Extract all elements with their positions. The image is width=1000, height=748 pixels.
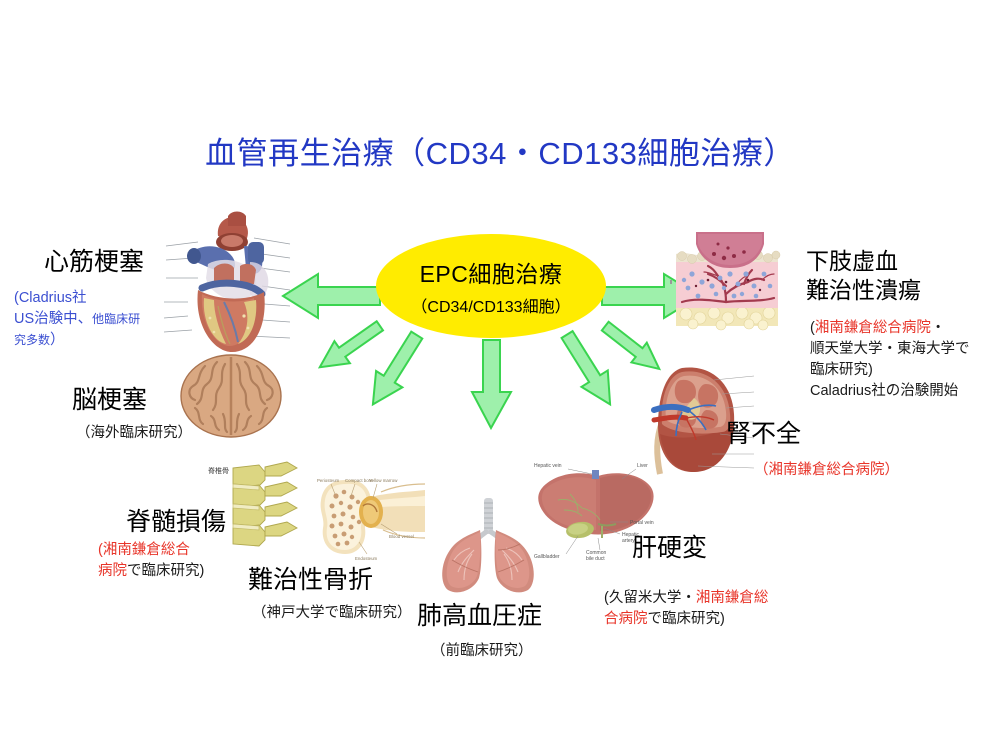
svg-text:Blood vessel: Blood vessel — [389, 534, 414, 539]
label-myocardial-infarction: 心筋梗塞 — [44, 248, 144, 278]
limb-ischemia-heading-1: 下肢虚血 — [806, 248, 921, 275]
lc-note-black2: で臨床研究) — [648, 611, 725, 627]
label-liver-cirrhosis: 肝硬変 — [632, 534, 707, 564]
mi-note-line2: US治験中、 — [14, 311, 92, 327]
spinal-cord-injury-note: (湘南鎌倉総合 病院で臨床研究) — [98, 540, 248, 582]
skin-ulcer-illustration — [668, 228, 786, 332]
vertebrae-image-label: 脊椎骨 — [208, 466, 229, 476]
label-refractory-fracture: 難治性骨折 （神戸大学で臨床研究） — [248, 566, 412, 624]
vertebrae-illustration — [225, 460, 305, 550]
sci-note-black2: で臨床研究) — [127, 563, 204, 579]
lc-note-red2: 合病院 — [604, 611, 648, 627]
label-pulmonary-hypertension: 肺高血圧症 （前臨床研究） — [417, 602, 542, 662]
li-note-line3: 臨床研究) — [810, 360, 1000, 381]
refractory-fracture-heading: 難治性骨折 — [248, 566, 412, 596]
bone-illustration: Periosteum Compact bone Yellow marrow Bl… — [305, 462, 427, 566]
sci-note-red2: 病院 — [98, 563, 127, 579]
limb-ischemia-note: (湘南鎌倉総合病院・ 順天堂大学・東海大学で 臨床研究) Caladrius社の… — [810, 318, 1000, 402]
center-node-epc[interactable]: EPC細胞治療 （CD34/CD133細胞） — [376, 234, 606, 338]
svg-text:Periosteum: Periosteum — [317, 478, 340, 483]
label-spinal-cord-injury: 脊髄損傷 — [126, 508, 226, 538]
arrow-down-left-far — [312, 315, 387, 379]
mi-note-line3b: ） — [50, 332, 65, 348]
heart-illustration — [158, 206, 298, 356]
li-note-dot: ・ — [931, 320, 946, 336]
center-node-subtitle: （CD34/CD133細胞） — [411, 293, 570, 317]
myocardial-infarction-note: (Cladrius社 US治験中、他臨床研 究多数） — [14, 288, 174, 351]
cerebral-infarction-note: （海外臨床研究） — [76, 423, 192, 444]
mi-note-line1: (Cladrius社 — [14, 290, 87, 306]
liver-anat-liver: Liver — [637, 463, 648, 469]
liver-anat-gallbladder: Gallbladder — [534, 554, 560, 560]
liver-anat-portal-vein: Portal vein — [630, 520, 654, 526]
refractory-fracture-note: （神戸大学で臨床研究） — [252, 603, 412, 624]
lc-note-black1: (久留米大学・ — [604, 590, 696, 606]
mi-note-line2b: 他臨床研 — [92, 312, 140, 326]
sci-note-red1: (湘南鎌倉総合 — [98, 542, 190, 558]
cerebral-infarction-heading: 脳梗塞 — [72, 386, 192, 416]
renal-failure-note: （湘南鎌倉総合病院） — [754, 460, 899, 481]
svg-text:Yellow marrow: Yellow marrow — [369, 478, 398, 483]
li-note-line2: 順天堂大学・東海大学で — [810, 339, 1000, 360]
center-node-title: EPC細胞治療 — [420, 255, 563, 289]
label-cerebral-infarction: 脳梗塞 （海外臨床研究） — [72, 386, 192, 444]
arrow-down-center — [472, 340, 511, 428]
pulmonary-hypertension-heading: 肺高血圧症 — [417, 602, 542, 632]
diagram-canvas: 血管再生治療（CD34・CD133細胞治療） EPC細胞治療 （CD34/CD1… — [0, 0, 1000, 748]
lc-note-red1: 湘南鎌倉総 — [696, 590, 769, 606]
liver-cirrhosis-note: (久留米大学・湘南鎌倉総 合病院で臨床研究) — [604, 588, 804, 630]
svg-text:bile duct: bile duct — [586, 556, 605, 562]
myocardial-infarction-heading: 心筋梗塞 — [44, 248, 144, 278]
liver-cirrhosis-heading: 肝硬変 — [632, 534, 707, 564]
renal-failure-heading: 腎不全 — [726, 420, 801, 450]
pulmonary-hypertension-note: （前臨床研究） — [431, 641, 542, 662]
li-note-line4: Caladrius社の治験開始 — [810, 381, 1000, 402]
spinal-cord-injury-heading: 脊髄損傷 — [126, 508, 226, 538]
label-renal-failure: 腎不全 — [726, 420, 801, 450]
li-note-red: 湘南鎌倉総合病院 — [815, 320, 931, 336]
limb-ischemia-heading-2: 難治性潰瘍 — [806, 277, 921, 304]
mi-note-line3: 究多数 — [14, 333, 50, 347]
label-limb-ischemia: 下肢虚血 難治性潰瘍 — [806, 248, 921, 304]
svg-text:Endosteum: Endosteum — [355, 556, 378, 561]
liver-anat-hepatic-vein: Hepatic vein — [534, 463, 562, 469]
